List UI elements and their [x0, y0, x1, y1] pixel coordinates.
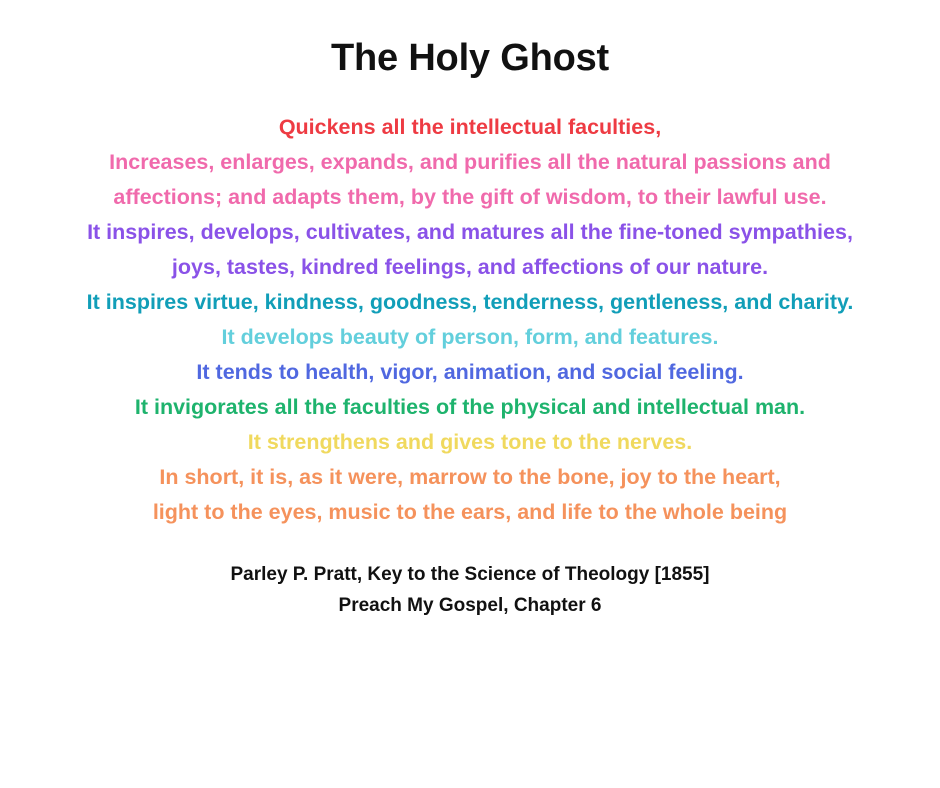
attribution-line: Parley P. Pratt, Key to the Science of T…: [0, 559, 940, 590]
verse-block: Quickens all the intellectual faculties,…: [0, 110, 940, 530]
verse-line: It invigorates all the faculties of the …: [0, 390, 940, 425]
slide-canvas: The Holy Ghost Quickens all the intellec…: [0, 0, 940, 788]
verse-line: In short, it is, as it were, marrow to t…: [0, 460, 940, 495]
verse-line: It develops beauty of person, form, and …: [0, 320, 940, 355]
verse-line: It tends to health, vigor, animation, an…: [0, 355, 940, 390]
verse-line: Increases, enlarges, expands, and purifi…: [0, 145, 940, 180]
verse-line: affections; and adapts them, by the gift…: [0, 180, 940, 215]
page-title: The Holy Ghost: [0, 0, 940, 80]
verse-line: It inspires, develops, cultivates, and m…: [0, 215, 940, 250]
verse-line: light to the eyes, music to the ears, an…: [0, 495, 940, 530]
attribution-line: Preach My Gospel, Chapter 6: [0, 590, 940, 621]
verse-line: joys, tastes, kindred feelings, and affe…: [0, 250, 940, 285]
attribution-block: Parley P. Pratt, Key to the Science of T…: [0, 559, 940, 621]
verse-line: Quickens all the intellectual faculties,: [0, 110, 940, 145]
verse-line: It strengthens and gives tone to the ner…: [0, 425, 940, 460]
verse-line: It inspires virtue, kindness, goodness, …: [0, 285, 940, 320]
